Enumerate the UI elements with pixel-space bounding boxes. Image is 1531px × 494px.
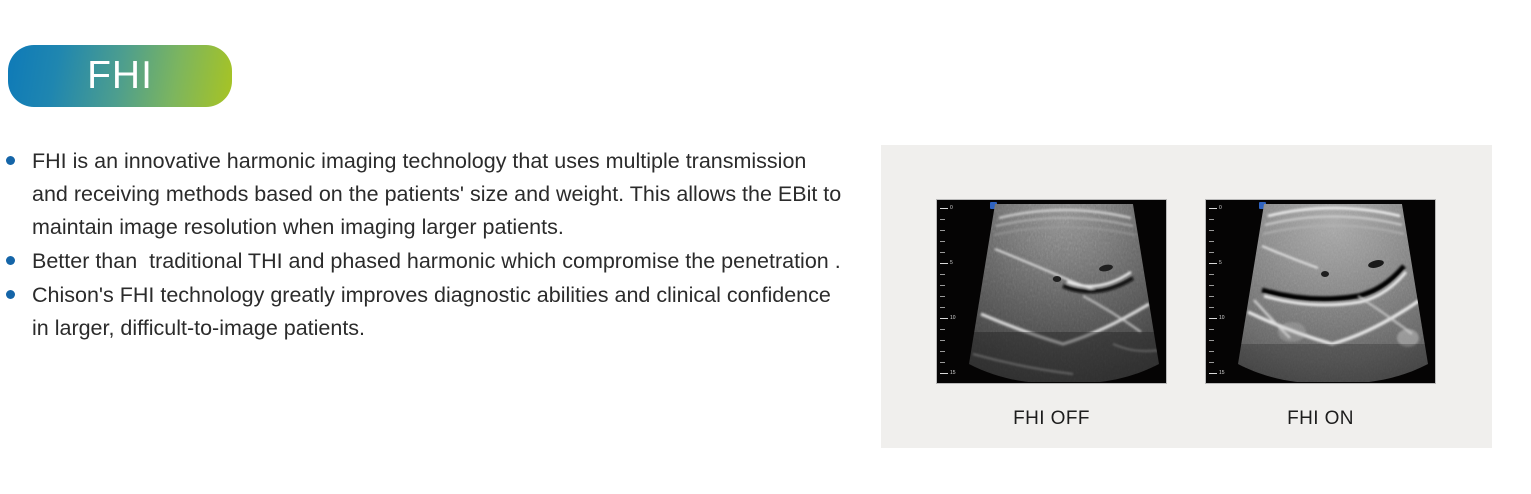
feature-bullet-list: FHI is an innovative harmonic imaging te… xyxy=(0,145,860,346)
depth-label: 10 xyxy=(1219,316,1225,321)
comparison-item-fhi-on: 0 5 10 15 xyxy=(1205,199,1436,430)
ultrasound-sector-fhi-off xyxy=(963,204,1165,382)
depth-label: 5 xyxy=(1219,261,1222,266)
ultrasound-image-fhi-on: 0 5 10 15 xyxy=(1205,199,1436,384)
fhi-badge-label: FHI xyxy=(87,56,153,97)
list-item: FHI is an innovative harmonic imaging te… xyxy=(0,145,860,244)
comparison-caption-fhi-on: FHI ON xyxy=(1205,408,1436,430)
depth-label: 0 xyxy=(1219,206,1222,211)
ultrasound-render-on xyxy=(1232,204,1434,382)
ultrasound-sector-fhi-on xyxy=(1232,204,1434,382)
depth-ruler-fhi-on: 0 5 10 15 xyxy=(1209,208,1233,376)
list-item: Chison's FHI technology greatly improves… xyxy=(0,279,860,345)
depth-label: 10 xyxy=(950,316,956,321)
depth-label: 5 xyxy=(950,261,953,266)
comparison-caption-fhi-off: FHI OFF xyxy=(936,408,1167,430)
comparison-item-fhi-off: 0 5 10 15 xyxy=(936,199,1167,430)
ultrasound-render-off xyxy=(963,204,1165,382)
bullet-dot-icon xyxy=(6,290,15,299)
fhi-badge: FHI xyxy=(8,45,232,107)
list-item-text: Better than traditional THI and phased h… xyxy=(15,245,842,278)
depth-ruler-fhi-off: 0 5 10 15 xyxy=(940,208,964,376)
list-item: Better than traditional THI and phased h… xyxy=(0,245,860,278)
list-item-text: FHI is an innovative harmonic imaging te… xyxy=(15,145,842,244)
depth-label: 15 xyxy=(950,371,956,376)
bullet-dot-icon xyxy=(6,256,15,265)
list-item-text: Chison's FHI technology greatly improves… xyxy=(15,279,842,345)
comparison-image-panel: 0 5 10 15 xyxy=(881,145,1492,448)
ultrasound-image-fhi-off: 0 5 10 15 xyxy=(936,199,1167,384)
bullet-dot-icon xyxy=(6,156,15,165)
depth-label: 0 xyxy=(950,206,953,211)
content-column: FHI FHI is an innovative harmonic imagin… xyxy=(0,0,870,494)
depth-label: 15 xyxy=(1219,371,1225,376)
